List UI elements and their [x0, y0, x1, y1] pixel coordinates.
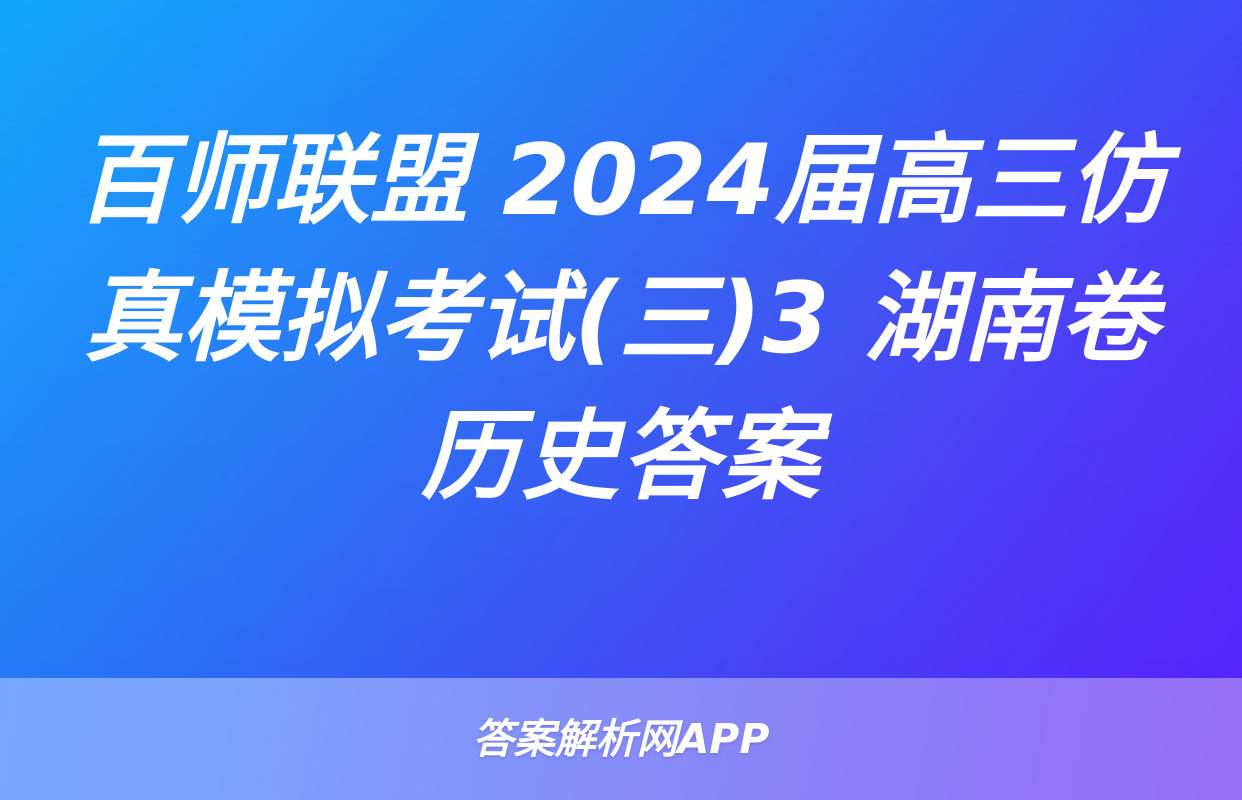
answer-poster-page: 百师联盟 2024届高三仿 真模拟考试(三)3 湖南卷 历史答案 答案解析网AP…	[0, 0, 1242, 800]
exam-title-line-1: 百师联盟 2024届高三仿	[76, 112, 1166, 250]
exam-title-line-3: 历史答案	[76, 388, 1166, 526]
app-watermark-label: 答案解析网APP	[473, 719, 770, 760]
watermark-footer-band: 答案解析网APP	[0, 678, 1242, 800]
exam-title-block: 百师联盟 2024届高三仿 真模拟考试(三)3 湖南卷 历史答案	[0, 0, 1242, 678]
exam-title-line-2: 真模拟考试(三)3 湖南卷	[76, 250, 1166, 388]
